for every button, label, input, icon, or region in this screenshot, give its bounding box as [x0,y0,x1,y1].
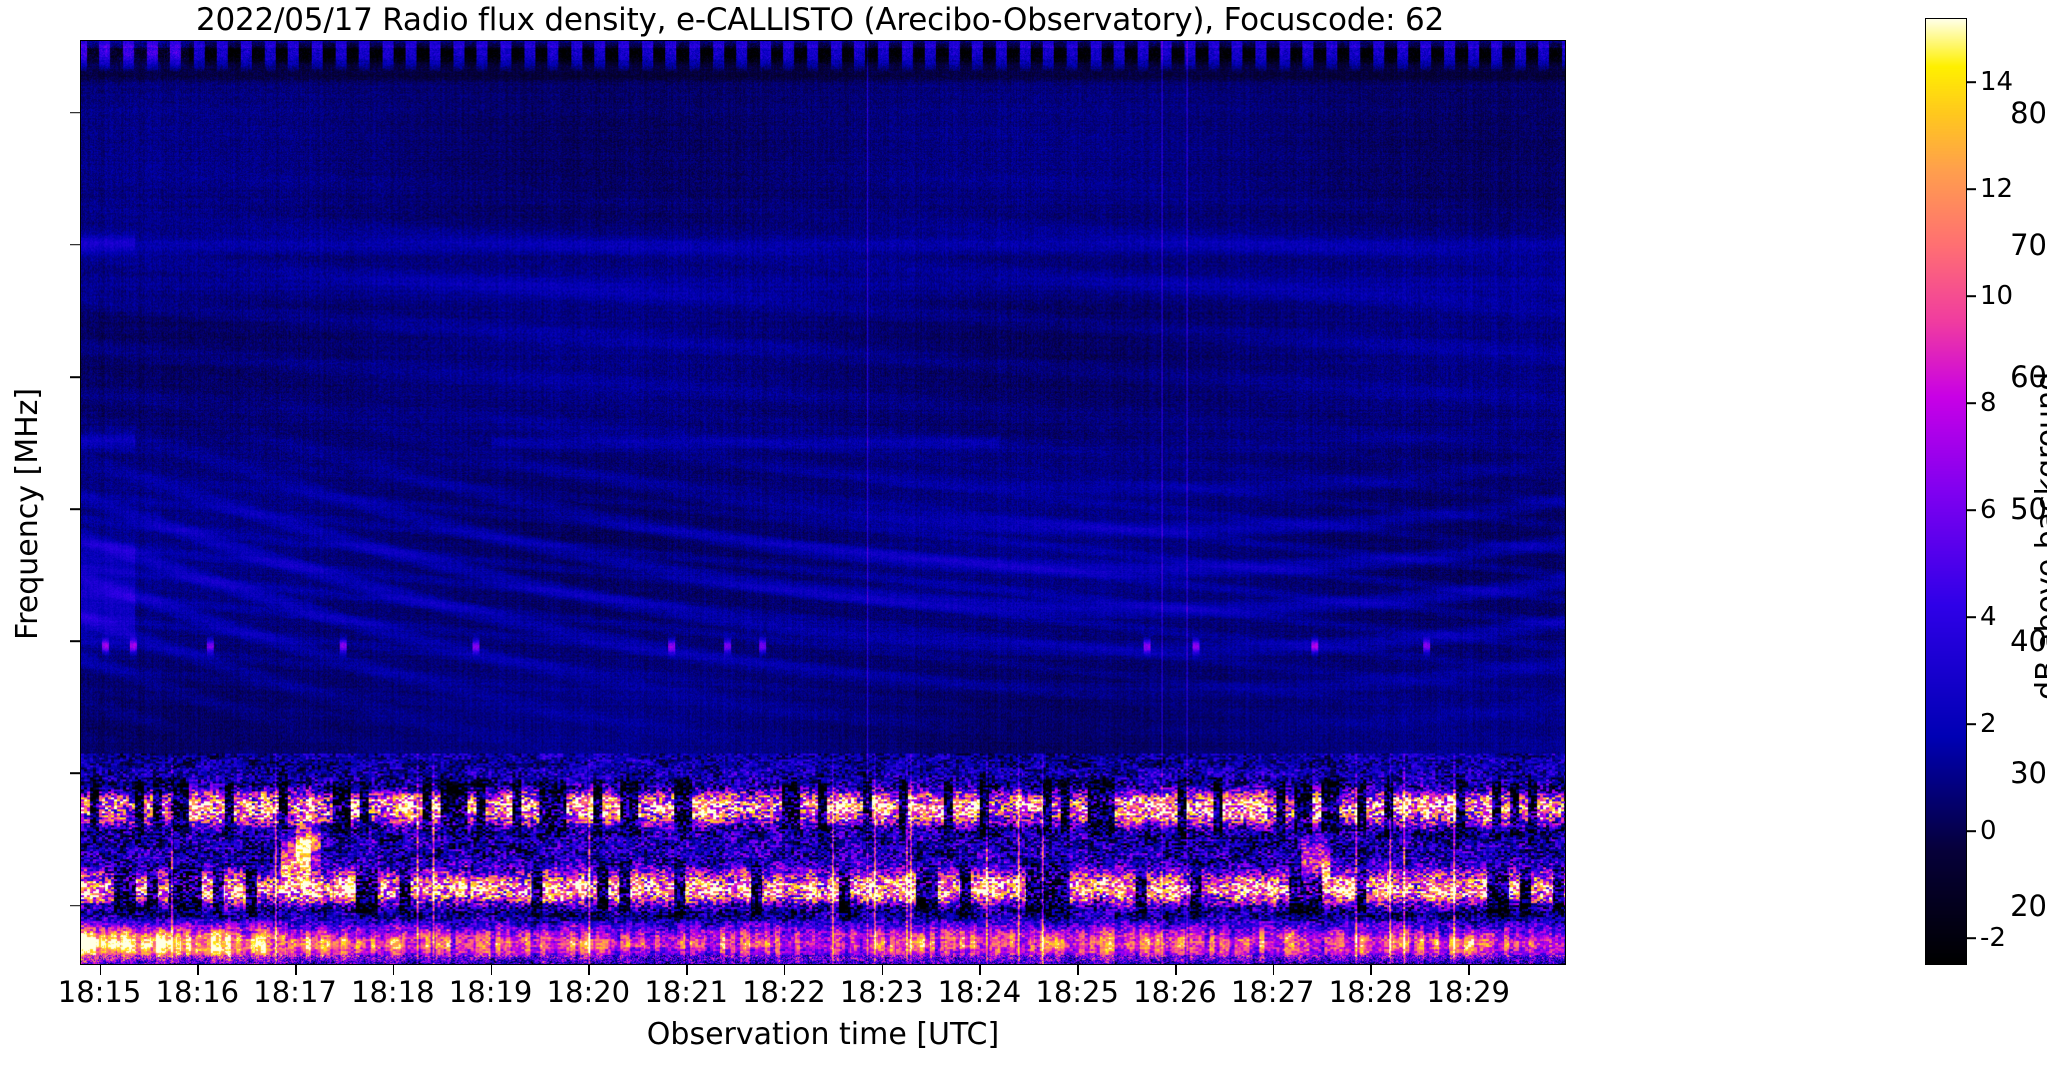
y-tick-mark [70,640,80,642]
colorbar-tick-label: 6 [1980,495,1997,525]
colorbar-tick-label: 8 [1980,388,1997,418]
y-tick-mark [70,508,80,510]
x-tick-mark [784,965,786,975]
x-tick-mark [491,965,493,975]
x-tick-mark [979,965,981,975]
x-tick-mark [1273,965,1275,975]
colorbar-label: dB above background [2030,372,2047,700]
y-tick-mark [70,905,80,907]
colorbar-tick-label: 2 [1980,709,1997,739]
colorbar-tick-mark [1967,295,1976,297]
x-tick-mark [393,965,395,975]
colorbar-tick-mark [1967,616,1976,618]
x-tick-mark [100,965,102,975]
y-tick-mark [70,244,80,246]
y-tick-label: 30 [1989,756,2047,790]
colorbar-tick-label: 14 [1980,67,2013,97]
colorbar-tick-label: -2 [1980,923,2006,953]
x-tick-mark [882,965,884,975]
y-tick-mark [70,112,80,114]
y-axis-label: Frequency [MHz] [10,388,45,640]
y-tick-label: 80 [1989,96,2047,130]
x-tick-label: 18:29 [1398,975,1538,1009]
x-tick-mark [588,965,590,975]
spectrogram-figure: 2022/05/17 Radio flux density, e-CALLIST… [0,0,2047,1067]
colorbar-tick-mark [1967,402,1976,404]
y-tick-label: 20 [1989,889,2047,923]
colorbar-tick-label: 0 [1980,816,1997,846]
colorbar-tick-mark [1967,81,1976,83]
y-tick-label: 70 [1989,228,2047,262]
x-tick-mark [686,965,688,975]
x-tick-mark [295,965,297,975]
x-tick-mark [1175,965,1177,975]
colorbar-tick-label: 12 [1980,174,2013,204]
colorbar-tick-label: 4 [1980,602,1997,632]
colorbar-tick-mark [1967,188,1976,190]
colorbar [1925,18,1967,965]
x-tick-mark [1370,965,1372,975]
colorbar-tick-mark [1967,830,1976,832]
x-axis-label: Observation time [UTC] [80,1017,1566,1052]
colorbar-tick-mark [1967,937,1976,939]
plot-axes [80,40,1566,965]
x-tick-mark [1468,965,1470,975]
y-tick-mark [70,773,80,775]
colorbar-tick-mark [1967,509,1976,511]
x-tick-mark [1077,965,1079,975]
spectrogram-image [81,41,1565,964]
x-tick-mark [197,965,199,975]
colorbar-tick-label: 10 [1980,281,2013,311]
page-title: 2022/05/17 Radio flux density, e-CALLIST… [0,2,1640,38]
y-tick-mark [70,376,80,378]
colorbar-tick-mark [1967,723,1976,725]
colorbar-gradient [1926,19,1966,964]
